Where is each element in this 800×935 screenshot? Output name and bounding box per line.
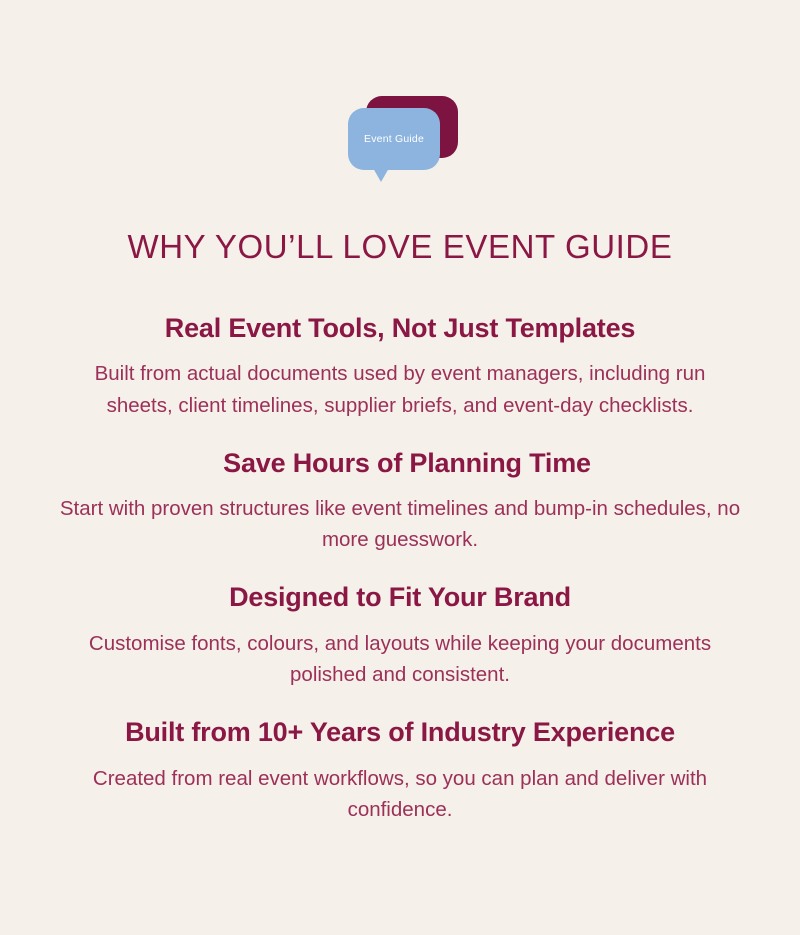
speech-bubble-tail-icon	[373, 168, 389, 182]
feature-heading: Designed to Fit Your Brand	[70, 581, 730, 613]
page-container: Event Guide WHY YOU’LL LOVE EVENT GUIDE …	[0, 0, 800, 935]
feature-body: Created from real event workflows, so yo…	[60, 763, 740, 825]
feature-body: Customise fonts, colours, and layouts wh…	[70, 628, 730, 690]
feature-item: Designed to Fit Your Brand Customise fon…	[70, 581, 730, 690]
logo-text: Event Guide	[364, 133, 424, 145]
feature-heading: Save Hours of Planning Time	[70, 447, 730, 479]
feature-list: Real Event Tools, Not Just Templates Bui…	[0, 266, 800, 825]
feature-heading: Real Event Tools, Not Just Templates	[70, 312, 730, 344]
feature-item: Built from 10+ Years of Industry Experie…	[70, 716, 730, 825]
event-guide-logo: Event Guide	[340, 96, 460, 184]
feature-heading: Built from 10+ Years of Industry Experie…	[70, 716, 730, 748]
feature-item: Save Hours of Planning Time Start with p…	[70, 447, 730, 556]
feature-body: Start with proven structures like event …	[55, 493, 745, 555]
page-title: WHY YOU’LL LOVE EVENT GUIDE	[128, 184, 673, 266]
feature-body: Built from actual documents used by even…	[70, 358, 730, 420]
speech-bubble-front-icon: Event Guide	[348, 108, 440, 170]
feature-item: Real Event Tools, Not Just Templates Bui…	[70, 312, 730, 421]
